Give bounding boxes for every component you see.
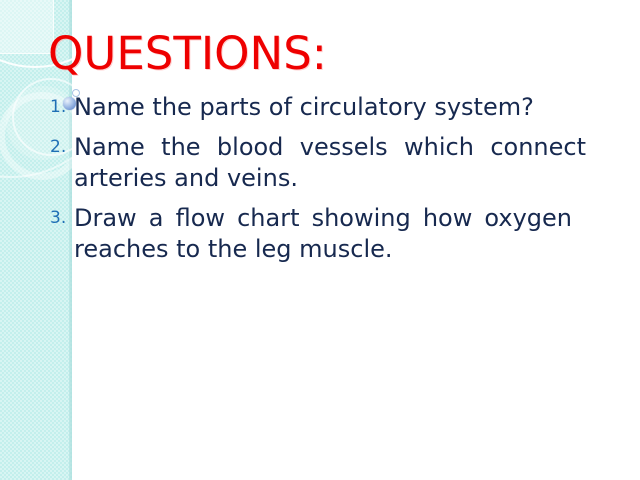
list-item-text: Name the blood vessels which connect art… (74, 132, 608, 194)
slide-canvas: QUESTIONS: 1. Name the parts of circulat… (0, 0, 640, 480)
list-item-text: Draw a flow chart showing how oxygen rea… (74, 203, 608, 265)
list-item: 2. Name the blood vessels which connect … (48, 132, 608, 194)
list-item-number: 2. (48, 132, 74, 163)
list-item-text: Name the parts of circulatory system? (74, 92, 608, 123)
small-circle-outline-icon (72, 89, 80, 97)
question-list: 1. Name the parts of circulatory system?… (48, 92, 608, 274)
blue-sphere-bullet-icon (63, 97, 76, 110)
list-item-number: 3. (48, 203, 74, 234)
list-item: 3. Draw a flow chart showing how oxygen … (48, 203, 608, 265)
list-item: 1. Name the parts of circulatory system? (48, 92, 608, 123)
page-title: QUESTIONS: (48, 28, 327, 80)
